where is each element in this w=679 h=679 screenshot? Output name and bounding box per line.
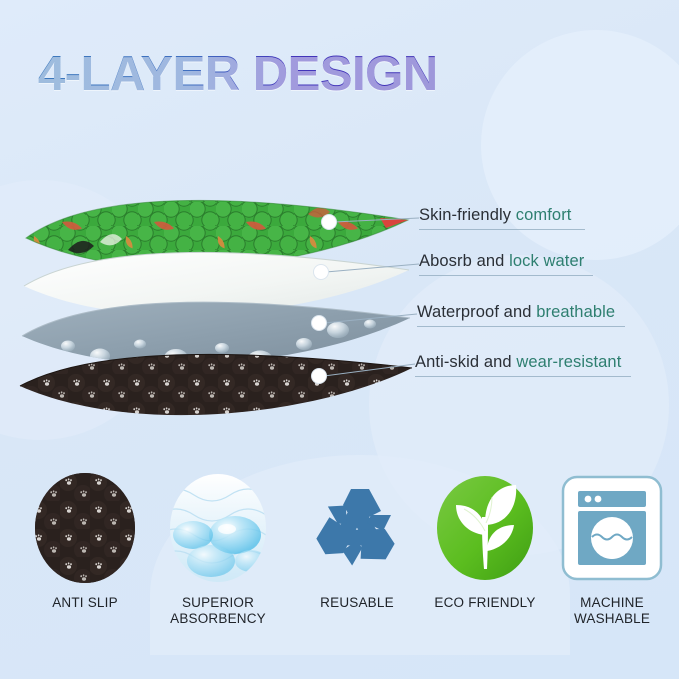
feature-superior-absorbency: SUPERIOR ABSORBENCY xyxy=(150,473,286,628)
caption-line-1: ECO FRIENDLY xyxy=(417,595,553,611)
feature-caption-anti-slip: ANTI SLIP xyxy=(17,595,153,611)
recycle-icon xyxy=(302,473,412,583)
caption-line-1: MACHINE xyxy=(544,595,679,611)
layer-stack-illustration xyxy=(8,178,428,468)
leaf-sprout-circle-icon xyxy=(430,473,540,583)
callout-plain-anti-skid: Anti-skid and xyxy=(415,353,516,371)
callout-text-absorbent: Abosrb and lock water xyxy=(419,252,584,275)
page-title-part-2: DESIGN xyxy=(253,47,438,101)
callout-rule-comfort xyxy=(419,229,585,230)
paw-print-circle-icon xyxy=(30,473,140,583)
callout-label-anti-skid: Anti-skid and wear-resistant xyxy=(415,353,631,377)
callout-plain-absorbent: Abosrb and xyxy=(419,252,509,270)
washing-machine-icon xyxy=(557,473,667,583)
caption-line-2: ABSORBENCY xyxy=(150,611,286,627)
page-title: 4-LAYER DESIGN xyxy=(38,50,438,99)
caption-line-1: SUPERIOR xyxy=(150,595,286,611)
callout-plain-waterproof: Waterproof and xyxy=(417,303,536,321)
caption-line-1: ANTI SLIP xyxy=(17,595,153,611)
feature-eco-friendly: ECO FRIENDLY xyxy=(417,473,553,611)
feature-anti-slip: ANTI SLIP xyxy=(17,473,153,611)
caption-line-2: WASHABLE xyxy=(544,611,679,627)
feature-caption-superior-absorbency: SUPERIOR ABSORBENCY xyxy=(150,595,286,628)
page-title-part-1: 4-LAYER xyxy=(38,47,253,101)
callout-plain-comfort: Skin-friendly xyxy=(419,206,516,224)
callout-highlight-comfort: comfort xyxy=(516,206,572,224)
feature-caption-eco-friendly: ECO FRIENDLY xyxy=(417,595,553,611)
callout-text-comfort: Skin-friendly comfort xyxy=(419,206,572,229)
feature-caption-machine-washable: MACHINE WASHABLE xyxy=(544,595,679,628)
feature-caption-reusable: REUSABLE xyxy=(289,595,425,611)
callout-text-waterproof: Waterproof and breathable xyxy=(417,303,615,326)
water-droplets-circle-icon xyxy=(163,473,273,583)
callout-label-waterproof: Waterproof and breathable xyxy=(417,303,625,327)
infographic-canvas: 4-LAYER DESIGN xyxy=(0,0,679,679)
feature-reusable: REUSABLE xyxy=(289,473,425,611)
callout-rule-anti-skid xyxy=(415,376,631,377)
callout-label-comfort: Skin-friendly comfort xyxy=(419,206,585,230)
feature-icon-row: ANTI SLIP xyxy=(0,473,679,648)
layer-art-anti-skid xyxy=(20,354,412,415)
callout-label-absorbent: Abosrb and lock water xyxy=(419,252,593,276)
callout-highlight-anti-skid: wear-resistant xyxy=(516,353,621,371)
callout-highlight-absorbent: lock water xyxy=(509,252,584,270)
callout-rule-absorbent xyxy=(419,275,593,276)
callout-text-anti-skid: Anti-skid and wear-resistant xyxy=(415,353,621,376)
callout-highlight-waterproof: breathable xyxy=(536,303,615,321)
feature-machine-washable: MACHINE WASHABLE xyxy=(544,473,679,628)
caption-line-1: REUSABLE xyxy=(289,595,425,611)
callout-rule-waterproof xyxy=(417,326,625,327)
